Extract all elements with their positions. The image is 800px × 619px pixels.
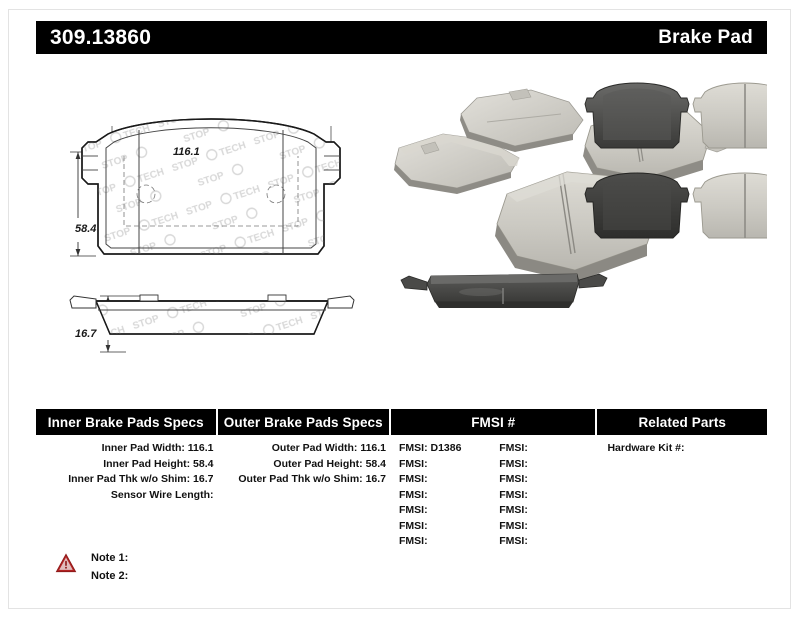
page-title: Brake Pad — [658, 28, 753, 47]
fmsi-row: FMSI: — [395, 472, 495, 488]
column-header-inner-specs: Inner Brake Pads Specs — [36, 409, 216, 435]
dimension-label-width: 116.1 — [173, 146, 200, 158]
table-body-row: Inner Pad Width: 116.1 Inner Pad Height:… — [36, 441, 767, 550]
related-parts-cell: Hardware Kit #: — [597, 441, 767, 550]
fmsi-row: FMSI: — [495, 441, 595, 457]
photo-pad-friction-1 — [693, 83, 767, 148]
technical-drawing: STOP TECH STOP — [56, 96, 406, 376]
spec-row: Sensor Wire Length: — [36, 488, 214, 504]
spec-row: Outer Pad Height: 58.4 — [218, 457, 387, 473]
illustration-area: STOP TECH STOP — [36, 66, 767, 386]
note-row: Note 2: — [91, 567, 128, 585]
fmsi-row: FMSI: — [395, 519, 495, 535]
brake-pad-line-drawing: STOP TECH STOP — [56, 96, 406, 376]
fmsi-row: FMSI: — [395, 488, 495, 504]
notes-section: Note 1: Note 2: — [55, 549, 128, 585]
related-parts-row: Hardware Kit #: — [607, 441, 767, 457]
spec-row: Inner Pad Height: 58.4 — [36, 457, 214, 473]
spec-row: Inner Pad Width: 116.1 — [36, 441, 214, 457]
photo-pad-backing-1 — [585, 83, 689, 148]
part-number: 309.13860 — [50, 27, 151, 48]
product-photo-group — [391, 76, 767, 336]
warning-triangle-icon — [55, 553, 77, 573]
table-header-row: Inner Brake Pads Specs Outer Brake Pads … — [36, 409, 767, 435]
column-header-fmsi: FMSI # — [391, 409, 595, 435]
spec-row: Inner Pad Thk w/o Shim: 16.7 — [36, 472, 214, 488]
outer-specs-cell: Outer Pad Width: 116.1 Outer Pad Height:… — [218, 441, 390, 550]
spec-row: Outer Pad Thk w/o Shim: 16.7 — [218, 472, 387, 488]
fmsi-row: FMSI: — [495, 472, 595, 488]
spec-row: Outer Pad Width: 116.1 — [218, 441, 387, 457]
column-header-related-parts: Related Parts — [597, 409, 767, 435]
photo-pad-friction-2 — [693, 173, 767, 238]
photo-pad-backing-2 — [585, 173, 689, 238]
fmsi-row: FMSI: — [395, 503, 495, 519]
fmsi-cell: FMSI: D1386 FMSI: FMSI: FMSI: FMSI: FMSI… — [391, 441, 595, 550]
dimension-label-thickness: 16.7 — [75, 328, 96, 340]
fmsi-row: FMSI: — [395, 457, 495, 473]
header-bar: 309.13860 Brake Pad — [36, 21, 767, 54]
dimension-label-height: 58.4 — [75, 223, 96, 235]
fmsi-row: FMSI: — [495, 534, 595, 550]
fmsi-row: FMSI: — [495, 457, 595, 473]
fmsi-row: FMSI: — [495, 519, 595, 535]
product-photos — [391, 76, 767, 336]
note-list: Note 1: Note 2: — [91, 549, 128, 585]
fmsi-row: FMSI: — [395, 534, 495, 550]
spec-sheet-page: 309.13860 Brake Pad STOP TECH STOP — [0, 0, 800, 619]
fmsi-row: FMSI: — [495, 503, 595, 519]
fmsi-row: FMSI: — [495, 488, 595, 504]
note-row: Note 1: — [91, 549, 128, 567]
column-header-outer-specs: Outer Brake Pads Specs — [218, 409, 390, 435]
pad-front-view — [56, 96, 406, 296]
fmsi-row: FMSI: D1386 — [395, 441, 495, 457]
fmsi-column-left: FMSI: D1386 FMSI: FMSI: FMSI: FMSI: FMSI… — [395, 441, 495, 550]
fmsi-column-right: FMSI: FMSI: FMSI: FMSI: FMSI: FMSI: FMSI… — [495, 441, 595, 550]
specifications-table: Inner Brake Pads Specs Outer Brake Pads … — [36, 409, 767, 550]
inner-specs-cell: Inner Pad Width: 116.1 Inner Pad Height:… — [36, 441, 216, 550]
photo-pad-side-view — [401, 274, 607, 308]
